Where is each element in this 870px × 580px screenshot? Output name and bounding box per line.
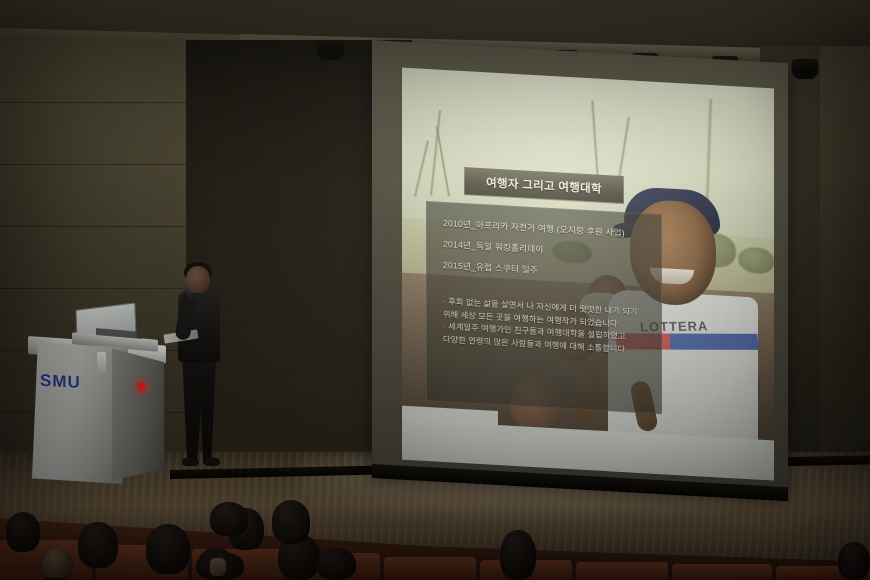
audience-head xyxy=(272,500,310,544)
slide-timeline-item: 2014년_독일 워킹홀리데이 xyxy=(443,238,651,262)
audience-head xyxy=(78,522,118,568)
track-light-1 xyxy=(318,40,344,57)
seat-back xyxy=(576,562,668,580)
audience-hand-phone xyxy=(210,558,226,576)
podium-logo: SMU xyxy=(40,371,81,393)
seat-back xyxy=(672,564,772,580)
speaker-head xyxy=(186,266,210,293)
podium-side-panel xyxy=(112,346,164,480)
podium-led-indicator xyxy=(138,382,145,391)
audience-head xyxy=(316,548,356,580)
audience-head xyxy=(42,548,72,580)
audience-head xyxy=(6,512,40,552)
audience-head xyxy=(500,530,536,580)
projected-slide: LOTTERA 여행자 그리고 여행대학 2010년_아프리카 자전거 여행 (… xyxy=(402,68,774,481)
track-light-7 xyxy=(792,59,818,76)
slide-timeline-item: 2010년_아프리카 자전거 여행 (오지랑 후원 사업) xyxy=(443,217,651,241)
audience-head xyxy=(210,502,248,536)
slide-timeline-item: 2015년_유럽 스쿠터 일주 xyxy=(443,259,651,283)
seat-back xyxy=(384,557,476,580)
right-wall-far xyxy=(820,46,870,476)
podium-control-panel xyxy=(97,352,106,374)
projection-screen: LOTTERA 여행자 그리고 여행대학 2010년_아프리카 자전거 여행 (… xyxy=(372,40,788,503)
slide-title-text: 여행자 그리고 여행대학 xyxy=(486,174,602,196)
speaker-shoe-right xyxy=(204,458,220,466)
lecture-hall-photo: LOTTERA 여행자 그리고 여행대학 2010년_아프리카 자전거 여행 (… xyxy=(0,0,870,580)
slide-text-box: 2010년_아프리카 자전거 여행 (오지랑 후원 사업) 2014년_독일 워… xyxy=(426,201,662,414)
audience-head xyxy=(146,524,190,574)
audience-head xyxy=(838,542,870,580)
speaker-shoe-left xyxy=(182,458,199,466)
